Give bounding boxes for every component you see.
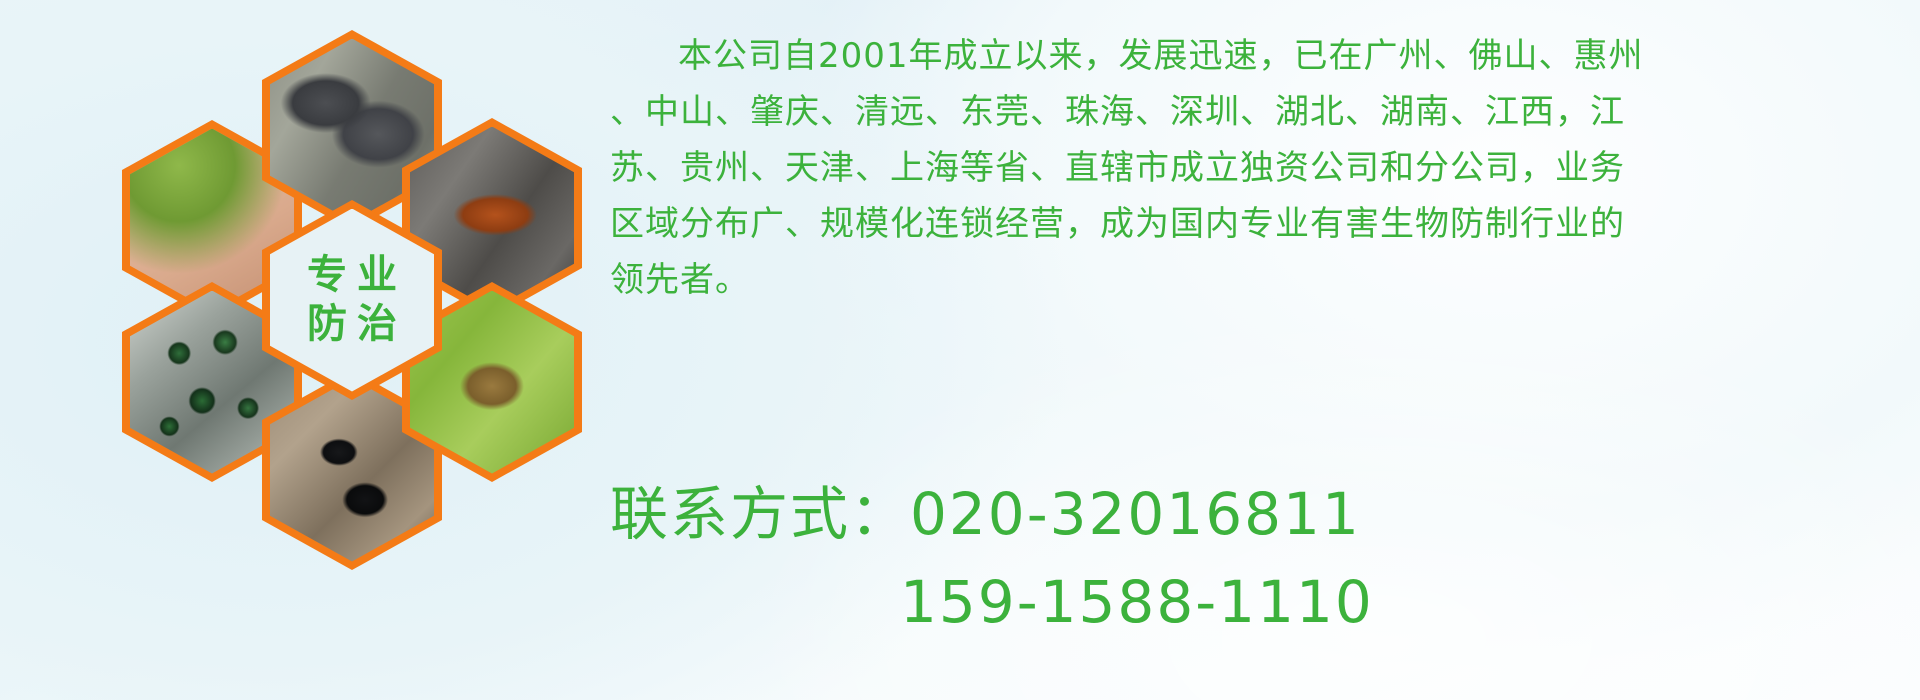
intro-line: 领先者。 — [610, 252, 1900, 308]
hexagon-photo-cluster: 专业 防治 — [100, 10, 620, 590]
contact-phone-mobile[interactable]: 159-1588-1110 — [610, 558, 1374, 646]
intro-line: 本公司自2001年成立以来，发展迅速，已在广州、佛山、惠州 — [610, 28, 1900, 84]
slogan-line-1: 专业 — [297, 254, 407, 297]
intro-line: 区域分布广、规模化连锁经营，成为国内专业有害生物防制行业的 — [610, 196, 1900, 252]
company-intro-paragraph: 本公司自2001年成立以来，发展迅速，已在广州、佛山、惠州 、中山、肇庆、清远、… — [610, 28, 1900, 308]
contact-block: 联系方式：020-32016811 159-1588-1110 — [610, 470, 1374, 646]
hex-inner: 专业 防治 — [270, 209, 434, 392]
slogan-line-2: 防治 — [297, 303, 407, 346]
intro-line: 苏、贵州、天津、上海等省、直辖市成立独资公司和分公司，业务 — [610, 140, 1900, 196]
contact-phone-primary[interactable]: 联系方式：020-32016811 — [610, 470, 1374, 558]
promo-banner: 专业 防治 本公司自2001年成立以来，发展迅速，已在广州、佛山、惠州 、中山、… — [0, 0, 1920, 700]
intro-line: 、中山、肇庆、清远、东莞、珠海、深圳、湖北、湖南、江西，江 — [610, 84, 1900, 140]
